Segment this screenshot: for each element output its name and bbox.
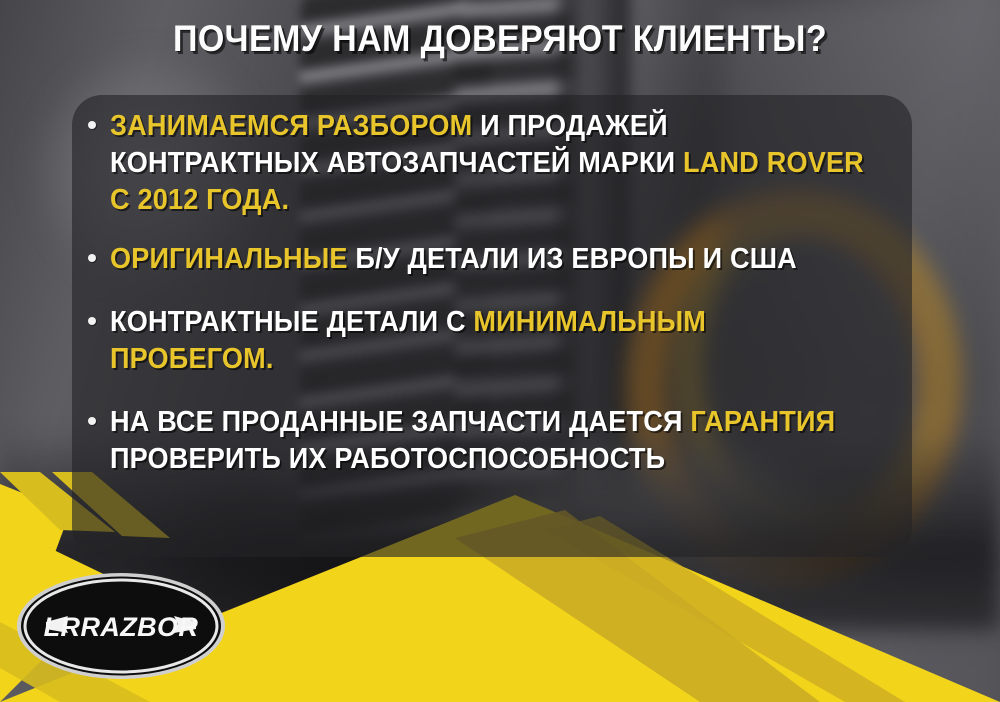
list-item-segment-normal: НА ВСЕ ПРОДАННЫЕ ЗАПЧАСТИ ДАЕТСЯ — [110, 406, 690, 438]
list-item: ОРИГИНАЛЬНЫЕ Б/У ДЕТАЛИ ИЗ ЕВРОПЫ И США — [78, 241, 908, 278]
list-item-segment-highlight: ГАРАНТИЯ — [690, 406, 835, 438]
list-item-segment-normal: Б/У ДЕТАЛИ ИЗ ЕВРОПЫ И США — [348, 243, 797, 275]
logo-oval-badge: LRRAZBOR — [16, 572, 226, 680]
list-item-segment-normal: КОНТРАКТНЫЕ ДЕТАЛИ С — [110, 306, 473, 338]
list-item-text: НА ВСЕ ПРОДАННЫЕ ЗАПЧАСТИ ДАЕТСЯ ГАРАНТИ… — [110, 404, 868, 478]
list-item-text: ОРИГИНАЛЬНЫЕ Б/У ДЕТАЛИ ИЗ ЕВРОПЫ И США — [110, 241, 868, 278]
list-item-segment-highlight: ОРИГИНАЛЬНЫЕ — [110, 243, 348, 275]
list-item: НА ВСЕ ПРОДАННЫЕ ЗАПЧАСТИ ДАЕТСЯ ГАРАНТИ… — [78, 404, 908, 478]
page-title: ПОЧЕМУ НАМ ДОВЕРЯЮТ КЛИЕНТЫ? — [40, 18, 960, 60]
list-item-text: ЗАНИМАЕМСЯ РАЗБОРОМ И ПРОДАЖЕЙ КОНТРАКТН… — [110, 108, 868, 219]
list-item-segment-highlight: ЗАНИМАЕМСЯ РАЗБОРОМ — [110, 110, 472, 142]
bullet-dot-icon — [88, 317, 96, 325]
brand-logo[interactable]: LRRAZBOR — [16, 572, 226, 680]
list-item-text: КОНТРАКТНЫЕ ДЕТАЛИ С МИНИМАЛЬНЫМ ПРОБЕГО… — [110, 304, 868, 378]
benefits-list: ЗАНИМАЕМСЯ РАЗБОРОМ И ПРОДАЖЕЙ КОНТРАКТН… — [78, 108, 908, 478]
logo-text: LRRAZBOR — [44, 612, 199, 642]
bullet-dot-icon — [88, 121, 96, 129]
bullet-dot-icon — [88, 254, 96, 262]
banner-canvas: ПОЧЕМУ НАМ ДОВЕРЯЮТ КЛИЕНТЫ? ЗАНИМАЕМСЯ … — [0, 0, 1000, 702]
list-item: ЗАНИМАЕМСЯ РАЗБОРОМ И ПРОДАЖЕЙ КОНТРАКТН… — [78, 108, 908, 219]
list-item: КОНТРАКТНЫЕ ДЕТАЛИ С МИНИМАЛЬНЫМ ПРОБЕГО… — [78, 304, 908, 378]
bullet-dot-icon — [88, 417, 96, 425]
list-item-segment-normal-2: ПРОВЕРИТЬ ИХ РАБОТОСПОСОБНОСТЬ — [110, 443, 665, 475]
